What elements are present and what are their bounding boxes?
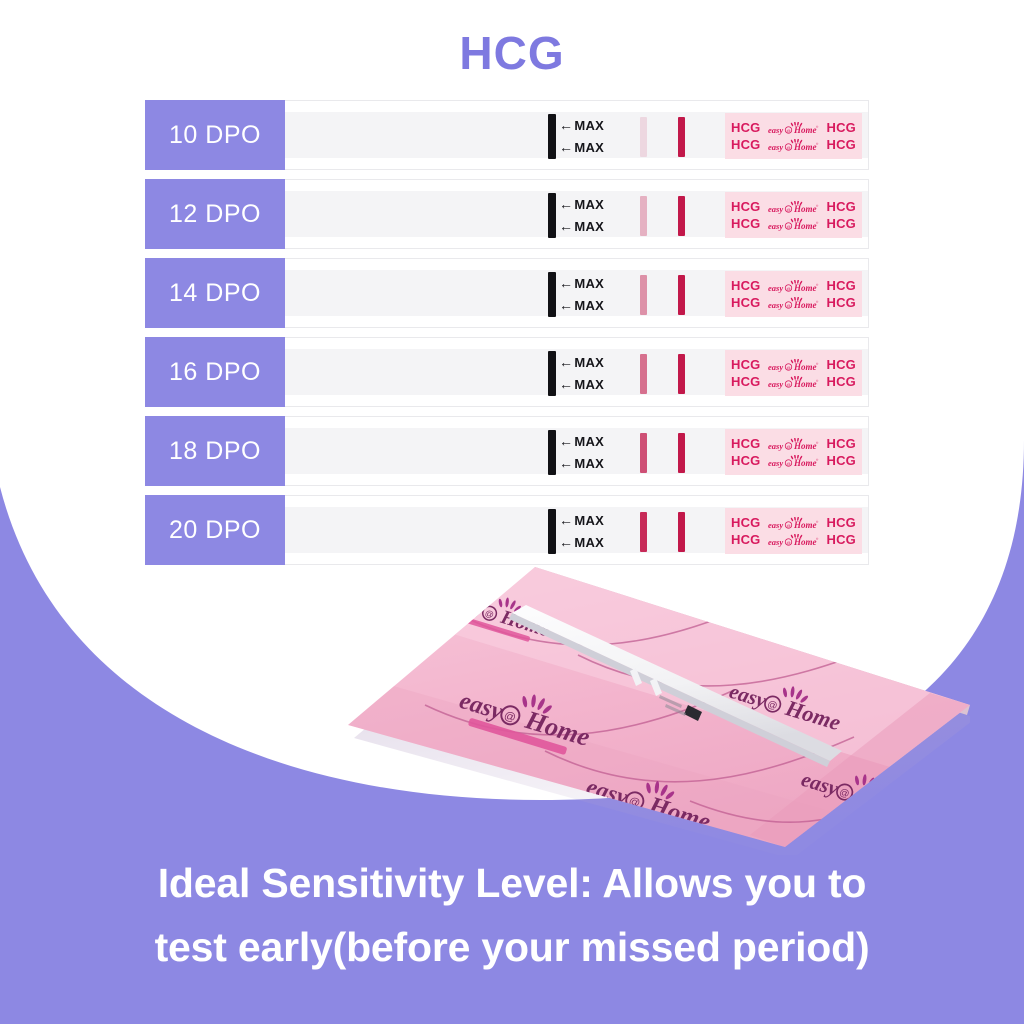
max-label: MAX	[574, 434, 604, 449]
easy-at-home-logo-icon: easy@Home®	[768, 438, 820, 452]
max-fill-bar	[548, 509, 556, 554]
dpo-label: 14 DPO	[145, 258, 285, 328]
control-line	[678, 196, 685, 236]
max-arrow-annotation: ←MAX	[559, 376, 604, 392]
caption-line-1: Ideal Sensitivity Level: Allows you to	[0, 852, 1024, 916]
svg-text:easy: easy	[629, 555, 663, 572]
test-strip: ←MAX←MAXHCGeasy@Home®HCGeasy@Home®HCGeas…	[285, 416, 869, 486]
strip-row: 16 DPO←MAX←MAXHCGeasy@Home®HCGeasy@Home®…	[145, 337, 869, 407]
branding-hcg-text: HCG	[731, 295, 761, 310]
left-arrow-icon: ←	[559, 455, 573, 471]
dpo-strip-chart: 10 DPO←MAX←MAXHCGeasy@Home®HCGeasy@Home®…	[145, 100, 869, 574]
branding-line: HCGeasy@Home®HCGeasy@Home®HCGeasy@Home®	[731, 199, 862, 214]
svg-text:@: @	[763, 596, 774, 608]
easy-at-home-logo-icon: easy@Home®	[768, 517, 820, 531]
branding-hcg-text: HCG	[731, 120, 761, 135]
branding-hcg-text: HCG	[827, 216, 857, 231]
svg-text:@: @	[786, 382, 790, 387]
branding-hcg-text: HCG	[731, 532, 761, 547]
svg-text:Home: Home	[793, 520, 817, 530]
test-line	[640, 512, 647, 552]
svg-text:®: ®	[816, 125, 819, 129]
strip-branding-band: HCGeasy@Home®HCGeasy@Home®HCGeasy@Home®H…	[725, 350, 862, 396]
control-line	[678, 433, 685, 473]
svg-text:Home: Home	[793, 300, 817, 310]
svg-text:®: ®	[816, 520, 819, 524]
left-arrow-icon: ←	[559, 512, 573, 528]
left-arrow-icon: ←	[559, 354, 573, 370]
svg-text:Home: Home	[793, 221, 817, 231]
svg-text:Home: Home	[793, 441, 817, 451]
test-strip: ←MAX←MAXHCGeasy@Home®HCGeasy@Home®HCGeas…	[285, 179, 869, 249]
control-line	[678, 354, 685, 394]
branding-easy-at-home-logo: easy@Home®	[768, 122, 820, 136]
branding-line: HCGeasy@Home®HCGeasy@Home®HCGeasy@Home®	[731, 137, 862, 152]
max-label: MAX	[574, 513, 604, 528]
strip-row: 18 DPO←MAX←MAXHCGeasy@Home®HCGeasy@Home®…	[145, 416, 869, 486]
max-arrow-annotation: ←MAX	[559, 455, 604, 471]
left-arrow-icon: ←	[559, 297, 573, 313]
test-line	[640, 433, 647, 473]
branding-hcg-text: HCG	[731, 374, 761, 389]
svg-text:Home: Home	[793, 362, 817, 372]
max-label: MAX	[574, 197, 604, 212]
svg-text:@: @	[786, 523, 790, 528]
dpo-label: 18 DPO	[145, 416, 285, 486]
svg-text:®: ®	[816, 362, 819, 366]
branding-hcg-text: HCG	[827, 453, 857, 468]
strip-branding-band: HCGeasy@Home®HCGeasy@Home®HCGeasy@Home®H…	[725, 192, 862, 238]
max-arrow-annotation: ←MAX	[559, 139, 604, 155]
max-arrow-annotation: ←MAX	[559, 117, 604, 133]
svg-text:@: @	[786, 128, 790, 133]
svg-text:easy: easy	[768, 362, 783, 372]
easy-at-home-logo-icon: easy@Home®	[768, 534, 820, 548]
branding-easy-at-home-logo: easy@Home®	[768, 455, 820, 469]
svg-text:easy: easy	[768, 300, 783, 310]
easy-at-home-logo-icon: easy@Home®	[768, 455, 820, 469]
test-strip: ←MAX←MAXHCGeasy@Home®HCGeasy@Home®HCGeas…	[285, 258, 869, 328]
max-fill-bar	[548, 351, 556, 396]
strip-row: 14 DPO←MAX←MAXHCGeasy@Home®HCGeasy@Home®…	[145, 258, 869, 328]
branding-hcg-text: HCG	[731, 357, 761, 372]
svg-text:®: ®	[816, 458, 819, 462]
svg-text:@: @	[786, 444, 790, 449]
max-label: MAX	[574, 118, 604, 133]
max-label: MAX	[574, 535, 604, 550]
branding-hcg-text: HCG	[827, 374, 857, 389]
svg-text:easy: easy	[768, 520, 783, 530]
strip-branding-band: HCGeasy@Home®HCGeasy@Home®HCGeasy@Home®H…	[725, 271, 862, 317]
dpo-label: 10 DPO	[145, 100, 285, 170]
product-photo: easy @ Home easy @ Home	[330, 555, 970, 855]
caption-block: Ideal Sensitivity Level: Allows you to t…	[0, 852, 1024, 979]
branding-hcg-text: HCG	[827, 532, 857, 547]
max-label: MAX	[574, 298, 604, 313]
branding-hcg-text: HCG	[731, 515, 761, 530]
branding-hcg-text: HCG	[827, 436, 857, 451]
strip-branding-band: HCGeasy@Home®HCGeasy@Home®HCGeasy@Home®H…	[725, 429, 862, 475]
svg-text:®: ®	[816, 142, 819, 146]
svg-text:@: @	[786, 461, 790, 466]
svg-text:@: @	[786, 286, 790, 291]
svg-text:®: ®	[816, 441, 819, 445]
svg-text:Home: Home	[793, 379, 817, 389]
left-arrow-icon: ←	[559, 275, 573, 291]
svg-text:Home: Home	[793, 125, 817, 135]
branding-easy-at-home-logo: easy@Home®	[768, 218, 820, 232]
svg-text:Home: Home	[793, 204, 817, 214]
svg-text:@: @	[786, 540, 790, 545]
left-arrow-icon: ←	[559, 117, 573, 133]
branding-hcg-text: HCG	[731, 453, 761, 468]
svg-text:@: @	[786, 224, 790, 229]
control-line	[678, 117, 685, 157]
branding-hcg-text: HCG	[731, 137, 761, 152]
svg-text:easy: easy	[768, 142, 783, 152]
branding-hcg-text: HCG	[827, 278, 857, 293]
dpo-label: 16 DPO	[145, 337, 285, 407]
caption-line-2: test early(before your missed period)	[0, 916, 1024, 980]
branding-easy-at-home-logo: easy@Home®	[768, 517, 820, 531]
strip-branding-band: HCGeasy@Home®HCGeasy@Home®HCGeasy@Home®H…	[725, 113, 862, 159]
svg-text:easy: easy	[768, 379, 783, 389]
svg-text:easy: easy	[768, 458, 783, 468]
svg-text:@: @	[786, 303, 790, 308]
max-arrow-annotation: ←MAX	[559, 297, 604, 313]
branding-easy-at-home-logo: easy@Home®	[768, 438, 820, 452]
test-line	[640, 117, 647, 157]
svg-text:Home: Home	[793, 283, 817, 293]
max-arrow-annotation: ←MAX	[559, 354, 604, 370]
max-arrow-annotation: ←MAX	[559, 275, 604, 291]
svg-text:easy: easy	[768, 441, 783, 451]
max-fill-bar	[548, 114, 556, 159]
branding-line: HCGeasy@Home®HCGeasy@Home®HCGeasy@Home®	[731, 515, 862, 530]
left-arrow-icon: ←	[559, 139, 573, 155]
left-arrow-icon: ←	[559, 218, 573, 234]
branding-easy-at-home-logo: easy@Home®	[768, 201, 820, 215]
max-fill-bar	[548, 272, 556, 317]
branding-easy-at-home-logo: easy@Home®	[768, 139, 820, 153]
branding-line: HCGeasy@Home®HCGeasy@Home®HCGeasy@Home®	[731, 357, 862, 372]
svg-text:®: ®	[816, 300, 819, 304]
max-arrow-annotation: ←MAX	[559, 534, 604, 550]
branding-easy-at-home-logo: easy@Home®	[768, 376, 820, 390]
branding-line: HCGeasy@Home®HCGeasy@Home®HCGeasy@Home®	[731, 278, 862, 293]
branding-line: HCGeasy@Home®HCGeasy@Home®HCGeasy@Home®	[731, 436, 862, 451]
branding-line: HCGeasy@Home®HCGeasy@Home®HCGeasy@Home®	[731, 532, 862, 547]
svg-text:Home: Home	[776, 594, 829, 629]
branding-hcg-text: HCG	[827, 515, 857, 530]
svg-text:@: @	[786, 365, 790, 370]
branding-line: HCGeasy@Home®HCGeasy@Home®HCGeasy@Home®	[731, 295, 862, 310]
easy-at-home-logo-icon: easy@Home®	[768, 139, 820, 153]
max-arrow-annotation: ←MAX	[559, 512, 604, 528]
easy-at-home-logo-icon: easy@Home®	[768, 122, 820, 136]
svg-text:easy: easy	[729, 580, 766, 609]
max-fill-bar	[548, 193, 556, 238]
left-arrow-icon: ←	[559, 376, 573, 392]
svg-text:Home: Home	[793, 142, 817, 152]
svg-text:easy: easy	[768, 537, 783, 547]
easy-at-home-logo-icon: easy@Home®	[768, 297, 820, 311]
max-arrow-annotation: ←MAX	[559, 433, 604, 449]
max-fill-bar	[548, 430, 556, 475]
svg-text:easy: easy	[768, 283, 783, 293]
svg-text:easy: easy	[449, 592, 487, 622]
test-strip: ←MAX←MAXHCGeasy@Home®HCGeasy@Home®HCGeas…	[285, 100, 869, 170]
branding-hcg-text: HCG	[731, 436, 761, 451]
left-arrow-icon: ←	[559, 433, 573, 449]
easy-at-home-logo-icon: easy@Home®	[768, 218, 820, 232]
dpo-label: 12 DPO	[145, 179, 285, 249]
svg-text:@: @	[786, 207, 790, 212]
svg-text:®: ®	[816, 379, 819, 383]
branding-hcg-text: HCG	[827, 199, 857, 214]
left-arrow-icon: ←	[559, 534, 573, 550]
easy-at-home-logo-icon: easy@Home®	[768, 359, 820, 373]
test-line	[640, 275, 647, 315]
branding-easy-at-home-logo: easy@Home®	[768, 297, 820, 311]
svg-text:easy: easy	[768, 204, 783, 214]
branding-hcg-text: HCG	[827, 357, 857, 372]
strip-row: 12 DPO←MAX←MAXHCGeasy@Home®HCGeasy@Home®…	[145, 179, 869, 249]
strip-row: 10 DPO←MAX←MAXHCGeasy@Home®HCGeasy@Home®…	[145, 100, 869, 170]
easy-at-home-logo-icon: easy@Home®	[768, 376, 820, 390]
dpo-label: 20 DPO	[145, 495, 285, 565]
branding-hcg-text: HCG	[731, 278, 761, 293]
branding-hcg-text: HCG	[731, 199, 761, 214]
max-label: MAX	[574, 377, 604, 392]
branding-line: HCGeasy@Home®HCGeasy@Home®HCGeasy@Home®	[731, 120, 862, 135]
branding-hcg-text: HCG	[827, 295, 857, 310]
svg-text:@: @	[786, 145, 790, 150]
max-arrow-annotation: ←MAX	[559, 196, 604, 212]
easy-at-home-logo-icon: easy@Home®	[768, 201, 820, 215]
svg-text:®: ®	[816, 283, 819, 287]
branding-easy-at-home-logo: easy@Home®	[768, 280, 820, 294]
max-label: MAX	[574, 219, 604, 234]
svg-text:Home: Home	[793, 537, 817, 547]
branding-hcg-text: HCG	[827, 137, 857, 152]
branding-hcg-text: HCG	[731, 216, 761, 231]
branding-line: HCGeasy@Home®HCGeasy@Home®HCGeasy@Home®	[731, 453, 862, 468]
svg-text:®: ®	[816, 221, 819, 225]
test-line	[640, 354, 647, 394]
page-title: HCG	[0, 26, 1024, 80]
svg-text:easy: easy	[768, 125, 783, 135]
max-arrow-annotation: ←MAX	[559, 218, 604, 234]
svg-text:Home: Home	[793, 458, 817, 468]
branding-easy-at-home-logo: easy@Home®	[768, 534, 820, 548]
control-line	[678, 275, 685, 315]
test-line	[640, 196, 647, 236]
strip-branding-band: HCGeasy@Home®HCGeasy@Home®HCGeasy@Home®H…	[725, 508, 862, 554]
svg-text:®: ®	[816, 204, 819, 208]
max-label: MAX	[574, 456, 604, 471]
branding-line: HCGeasy@Home®HCGeasy@Home®HCGeasy@Home®	[731, 374, 862, 389]
branding-line: HCGeasy@Home®HCGeasy@Home®HCGeasy@Home®	[731, 216, 862, 231]
test-strip: ←MAX←MAXHCGeasy@Home®HCGeasy@Home®HCGeas…	[285, 337, 869, 407]
max-label: MAX	[574, 355, 604, 370]
branding-hcg-text: HCG	[827, 120, 857, 135]
branding-easy-at-home-logo: easy@Home®	[768, 359, 820, 373]
left-arrow-icon: ←	[559, 196, 573, 212]
control-line	[678, 512, 685, 552]
max-label: MAX	[574, 276, 604, 291]
easy-at-home-logo-icon: easy@Home®	[768, 280, 820, 294]
max-label: MAX	[574, 140, 604, 155]
svg-text:easy: easy	[768, 221, 783, 231]
svg-text:®: ®	[816, 537, 819, 541]
